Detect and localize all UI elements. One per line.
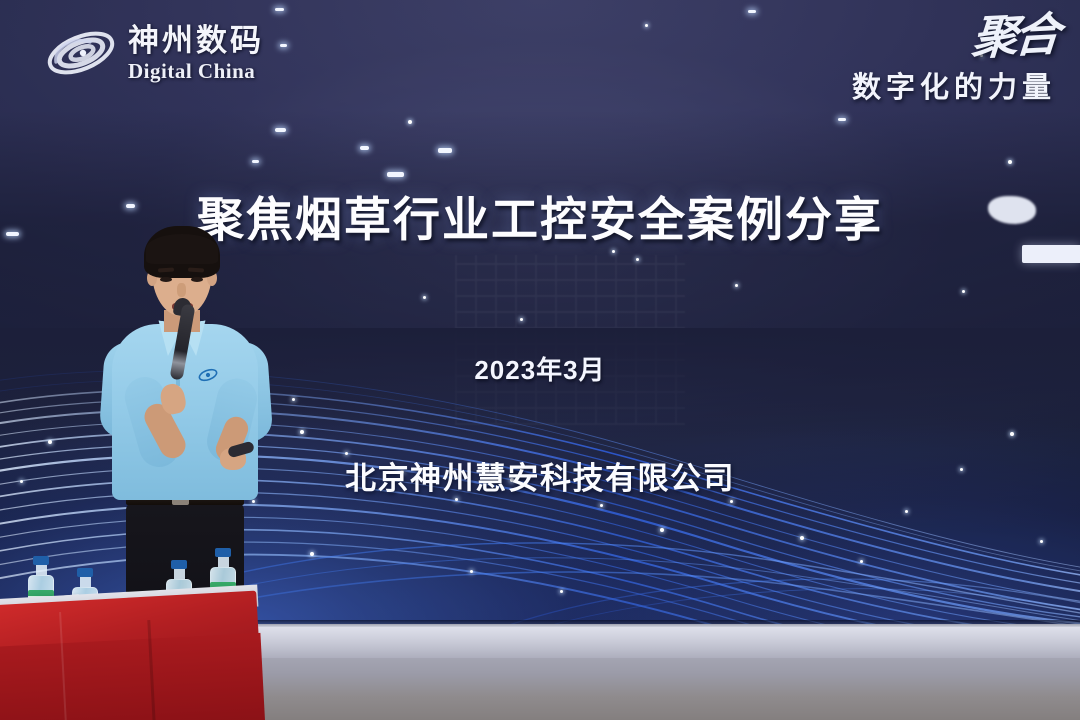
bottle-neck xyxy=(174,569,185,579)
table-cloth-lower xyxy=(0,633,265,720)
company-badge-icon xyxy=(197,366,219,384)
speaker-hair-front xyxy=(146,234,218,264)
digital-china-wordmark: 神州数码 Digital China xyxy=(128,25,264,82)
speaker-eye-right xyxy=(191,277,203,282)
brand-name-cn: 神州数码 xyxy=(128,25,264,56)
speaker-nose xyxy=(177,283,186,297)
brand-name-en: Digital China xyxy=(128,61,264,82)
juhe-tagline: 数字化的力量 xyxy=(852,64,1056,106)
stage-photo: 神州数码 Digital China 聚合 数字化的力量 聚焦烟草行业工控安全案… xyxy=(0,0,1080,720)
bottle-cap xyxy=(215,548,231,557)
bottle-neck xyxy=(80,577,91,587)
digital-china-brand: 神州数码 Digital China xyxy=(44,22,264,84)
juhe-brand: 聚合 数字化的力量 xyxy=(852,14,1056,106)
speaker-eye-left xyxy=(160,277,172,282)
bottle-cap xyxy=(77,568,93,577)
bottle-cap xyxy=(171,560,187,569)
juhe-calligraphy: 聚合 xyxy=(970,12,1058,62)
digital-china-swirl-icon xyxy=(44,22,118,84)
bottle-neck xyxy=(36,565,47,575)
bottle-cap xyxy=(33,556,49,565)
bottle-neck xyxy=(218,557,229,567)
